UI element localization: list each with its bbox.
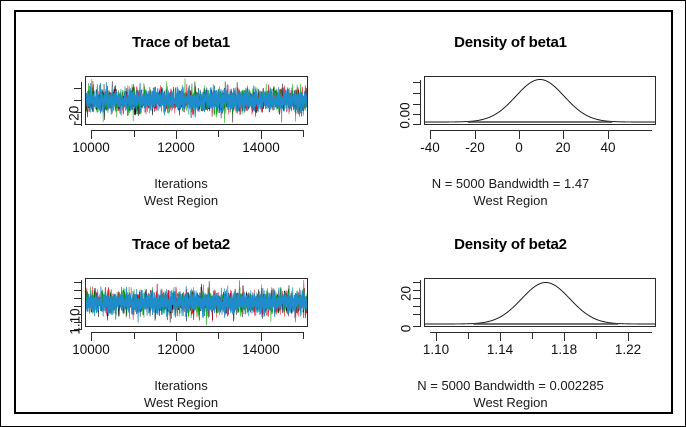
density-beta2-ytick-1 (413, 282, 420, 283)
trace-beta1-xtick-11000 (134, 130, 135, 137)
trace-beta1-ytick-4 (74, 124, 81, 125)
density-beta1-yaxis-line (420, 80, 421, 125)
trace-beta2-ytick-7 (74, 329, 81, 330)
trace-beta2-xtick-15000 (303, 332, 304, 339)
density-beta1-curve (425, 77, 655, 124)
density-beta2-ytick-6 (413, 326, 420, 327)
density-beta1-xtick-m40 (430, 130, 431, 139)
trace-beta1-title: Trace of beta1 (16, 34, 346, 51)
density-beta2-xtick-110 (436, 332, 437, 341)
density-beta1-plot-area (424, 76, 656, 125)
trace-beta2-ytick-1 (74, 282, 81, 283)
density-beta1-ytick-1 (413, 82, 420, 83)
trace-beta2-plot-area (85, 278, 308, 327)
density-beta1-xtick-40 (608, 130, 609, 139)
panel-trace-beta2: Trace of beta2 1.10 10000 120 (16, 214, 346, 416)
density-beta1-ytick-5 (413, 124, 420, 125)
trace-beta1-ytick-label: -20 (67, 102, 82, 130)
density-beta2-title: Density of beta2 (346, 236, 675, 253)
density-beta2-sublabel: West Region (346, 394, 675, 411)
trace-beta2-sublabel: West Region (16, 394, 346, 411)
trace-beta2-xtick-13000 (218, 332, 219, 339)
trace-beta2-xtick-10000 (91, 332, 92, 341)
density-beta2-plot-area (424, 278, 656, 327)
trace-beta1-sublabel: West Region (16, 192, 346, 209)
density-beta2-xaxis-title: N = 5000 Bandwidth = 0.002285 (346, 377, 675, 394)
trace-beta2-traces (86, 279, 307, 326)
density-beta2-ytick-label-0: 0 (399, 317, 414, 341)
density-beta1-xtick-20 (563, 130, 564, 139)
trace-beta1-xtick-15000 (303, 130, 304, 137)
density-beta1-xtick-m20 (475, 130, 476, 139)
panel-density-beta2: Density of beta2 20 0 1.10 (346, 214, 675, 416)
density-beta2-xlabel-114: 1.14 (487, 342, 513, 357)
density-beta2-ytick-label-20: 20 (399, 282, 414, 306)
density-beta2-xtick-122 (628, 332, 629, 341)
trace-beta2-title: Trace of beta2 (16, 236, 346, 253)
density-beta1-xlabel-m20: -20 (465, 140, 485, 155)
density-beta2-xtick-116 (532, 332, 533, 339)
panel-trace-beta1: Trace of beta1 -20 10000 (16, 12, 346, 214)
density-beta2-xtick-118 (564, 332, 565, 341)
figure-inner-border: Trace of beta1 -20 10000 (14, 10, 673, 414)
density-beta1-ytick-label: 0.00 (398, 99, 413, 133)
density-beta2-xtick-112 (468, 332, 469, 339)
density-beta1-ytick-3 (413, 104, 420, 105)
density-beta2-ytick-4 (413, 306, 420, 307)
density-beta2-yaxis-line (420, 280, 421, 327)
trace-beta2-ytick-2 (74, 290, 81, 291)
density-beta2-ytick-5 (413, 314, 420, 315)
trace-beta1-xtick-13000 (218, 130, 219, 137)
trace-beta1-xtick-10000 (91, 130, 92, 139)
trace-beta1-xlabel-10000: 10000 (72, 140, 110, 155)
trace-beta2-xaxis-line (91, 332, 303, 333)
trace-beta2-ytick-5 (74, 314, 81, 315)
trace-beta1-plot-area (85, 76, 308, 125)
density-beta1-ytick-2 (413, 93, 420, 94)
density-beta1-xaxis-line (430, 130, 652, 131)
trace-beta1-traces (86, 77, 307, 124)
trace-beta1-ytick-3 (74, 112, 81, 113)
trace-beta2-xtick-11000 (134, 332, 135, 339)
trace-beta1-xlabel-14000: 14000 (242, 140, 280, 155)
trace-beta2-ytick-6 (74, 322, 81, 323)
density-beta2-xtick-120 (596, 332, 597, 339)
density-beta1-sublabel: West Region (346, 192, 675, 209)
trace-beta2-xtick-12000 (176, 332, 177, 341)
density-beta1-xaxis-title: N = 5000 Bandwidth = 1.47 (346, 175, 675, 192)
density-beta2-xtick-114 (500, 332, 501, 341)
panel-density-beta1: Density of beta1 0.00 -40 -20 0 20 (346, 12, 675, 214)
density-beta2-xlabel-122: 1.22 (615, 342, 641, 357)
density-beta2-xlabel-110: 1.10 (423, 342, 449, 357)
density-beta1-title: Density of beta1 (346, 34, 675, 51)
density-beta1-xlabel-0: 0 (515, 140, 523, 155)
figure-canvas: Trace of beta1 -20 10000 (0, 0, 686, 427)
trace-beta2-xlabel-14000: 14000 (242, 342, 280, 357)
density-beta1-ytick-4 (413, 114, 420, 115)
trace-beta1-xtick-14000 (261, 130, 262, 139)
density-beta2-xaxis-line (430, 332, 652, 333)
density-beta1-xlabel-20: 20 (555, 140, 570, 155)
density-beta2-ytick-3 (413, 298, 420, 299)
trace-beta2-yaxis-line (81, 280, 82, 330)
trace-beta1-xlabel-12000: 12000 (157, 140, 195, 155)
trace-beta2-xtick-14000 (261, 332, 262, 341)
density-beta2-xlabel-118: 1.18 (551, 342, 577, 357)
trace-beta2-xlabel-10000: 10000 (72, 342, 110, 357)
density-beta1-xlabel-40: 40 (600, 140, 615, 155)
trace-beta1-xtick-12000 (176, 130, 177, 139)
trace-beta1-xaxis-line (91, 130, 303, 131)
trace-beta1-ytick-1 (74, 88, 81, 89)
density-beta2-ytick-2 (413, 290, 420, 291)
trace-beta2-xlabel-12000: 12000 (157, 342, 195, 357)
density-beta2-curve (425, 279, 655, 326)
trace-beta2-xaxis-title: Iterations (16, 377, 346, 394)
trace-beta2-ytick-4 (74, 306, 81, 307)
trace-beta1-ytick-2 (74, 100, 81, 101)
density-beta1-xlabel-m40: -40 (420, 140, 440, 155)
trace-beta1-xaxis-title: Iterations (16, 175, 346, 192)
trace-beta1-yaxis-line (81, 82, 82, 126)
density-beta1-xtick-0 (519, 130, 520, 139)
trace-beta2-ytick-3 (74, 298, 81, 299)
